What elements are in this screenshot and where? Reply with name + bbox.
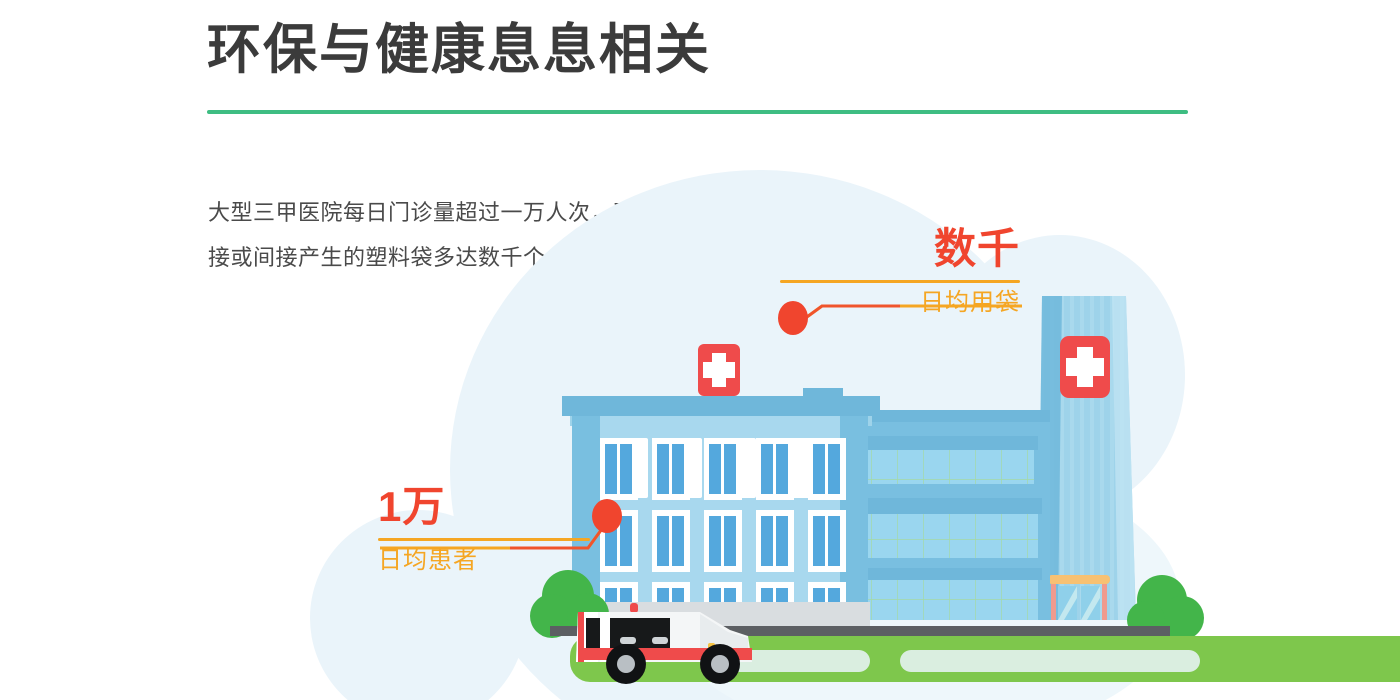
title-underline-rule xyxy=(207,110,1188,114)
red-cross-roof-sign xyxy=(698,344,740,396)
callout-bags-label: 日均用袋 xyxy=(780,289,1020,318)
callout-daily-bags: 数千 日均用袋 xyxy=(780,228,1020,318)
slide-canvas: 环保与健康息息相关 大型三甲医院每日门诊量超过一万人次，直接或间接产生的塑料袋多… xyxy=(0,0,1400,700)
marker-dot-patients xyxy=(592,499,622,533)
red-cross-tower-sign xyxy=(1060,336,1110,398)
callout-bags-value: 数千 xyxy=(780,228,1020,270)
hospital-tower xyxy=(1038,296,1136,620)
callout-patients-rule xyxy=(378,538,590,541)
callout-patients-value: 1万 xyxy=(378,486,590,528)
road-marking xyxy=(900,650,1200,672)
callout-bags-rule xyxy=(780,280,1020,283)
callout-daily-patients: 1万 日均患者 xyxy=(378,486,590,576)
callout-patients-label: 日均患者 xyxy=(378,547,590,576)
page-title: 环保与健康息息相关 xyxy=(207,22,711,79)
